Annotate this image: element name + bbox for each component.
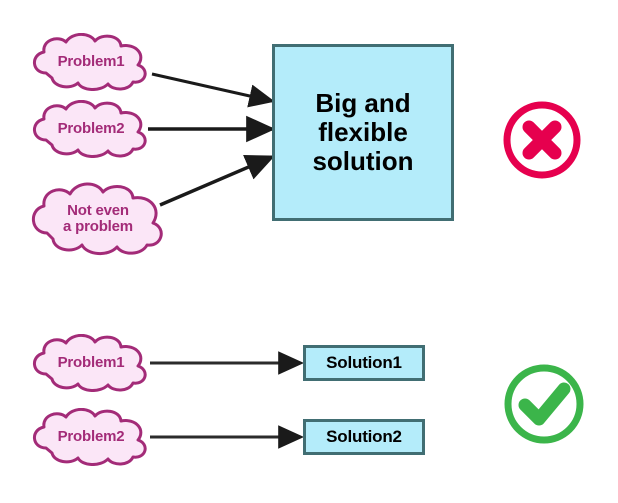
cloud-label: Problem2: [26, 408, 156, 466]
cloud-label: Problem1: [26, 33, 156, 91]
cross-circle-icon: [498, 96, 586, 184]
arrow-not-even-a-problem-to-big-solution: [160, 157, 272, 205]
diagram-canvas: Problem1 Problem2 Not even a problem Big…: [0, 0, 618, 503]
solution1-box[interactable]: Solution1: [303, 345, 425, 381]
cloud-problem1-bad[interactable]: Problem1: [26, 33, 156, 91]
big-flexible-solution-label: Big and flexible solution: [312, 89, 413, 176]
solution2-label: Solution2: [326, 427, 402, 447]
cloud-problem2-good[interactable]: Problem2: [26, 408, 156, 466]
big-flexible-solution-box[interactable]: Big and flexible solution: [272, 44, 454, 221]
cloud-problem1-good[interactable]: Problem1: [26, 334, 156, 392]
solution1-label: Solution1: [326, 353, 402, 373]
cloud-label: Not even a problem: [24, 182, 172, 256]
cloud-not-even-a-problem[interactable]: Not even a problem: [24, 182, 172, 256]
cloud-problem2-bad[interactable]: Problem2: [26, 100, 156, 158]
check-circle-icon: [498, 358, 590, 450]
solution2-box[interactable]: Solution2: [303, 419, 425, 455]
cloud-label: Problem2: [26, 100, 156, 158]
cloud-label: Problem1: [26, 334, 156, 392]
arrow-problem1-to-big-solution: [152, 74, 272, 101]
